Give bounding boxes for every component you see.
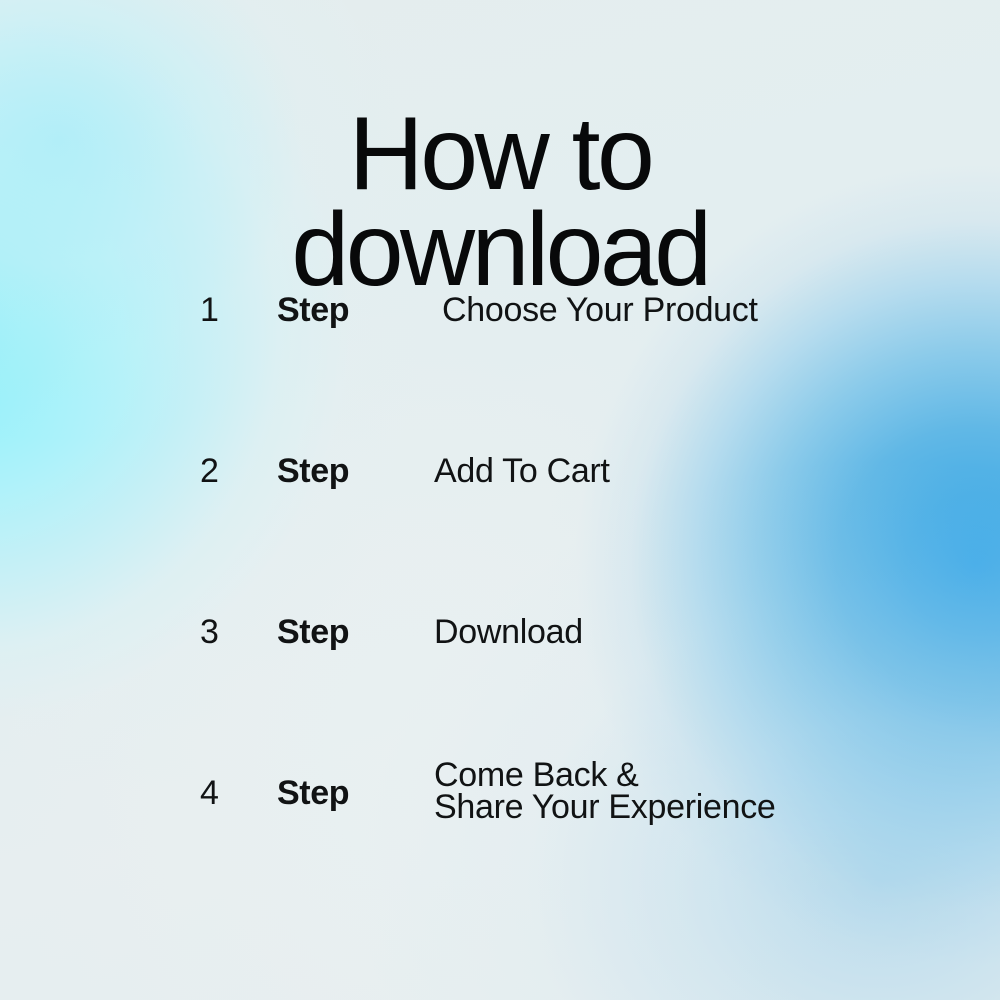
steps-list: 1 Step Choose Your Product 2 Step Add To… — [0, 288, 1000, 932]
step-label: Step — [277, 610, 349, 654]
step-row: 3 Step Download — [0, 610, 1000, 771]
step-description: Come Back & Share Your Experience — [434, 759, 776, 823]
poster-content: How to download 1 Step Choose Your Produ… — [0, 0, 1000, 1000]
step-label: Step — [277, 449, 349, 493]
poster-canvas: How to download 1 Step Choose Your Produ… — [0, 0, 1000, 1000]
step-label: Step — [277, 771, 349, 815]
step-number: 1 — [200, 288, 260, 332]
step-description: Add To Cart — [434, 449, 610, 493]
step-row: 1 Step Choose Your Product — [0, 288, 1000, 449]
step-number: 3 — [200, 610, 260, 654]
step-description: Download — [434, 610, 583, 654]
step-row: 4 Step Come Back & Share Your Experience — [0, 771, 1000, 932]
step-description: Choose Your Product — [442, 288, 758, 332]
step-row: 2 Step Add To Cart — [0, 449, 1000, 610]
step-number: 4 — [200, 771, 260, 815]
step-label: Step — [277, 288, 349, 332]
step-number: 2 — [200, 449, 260, 493]
page-title: How to download — [0, 106, 1000, 299]
